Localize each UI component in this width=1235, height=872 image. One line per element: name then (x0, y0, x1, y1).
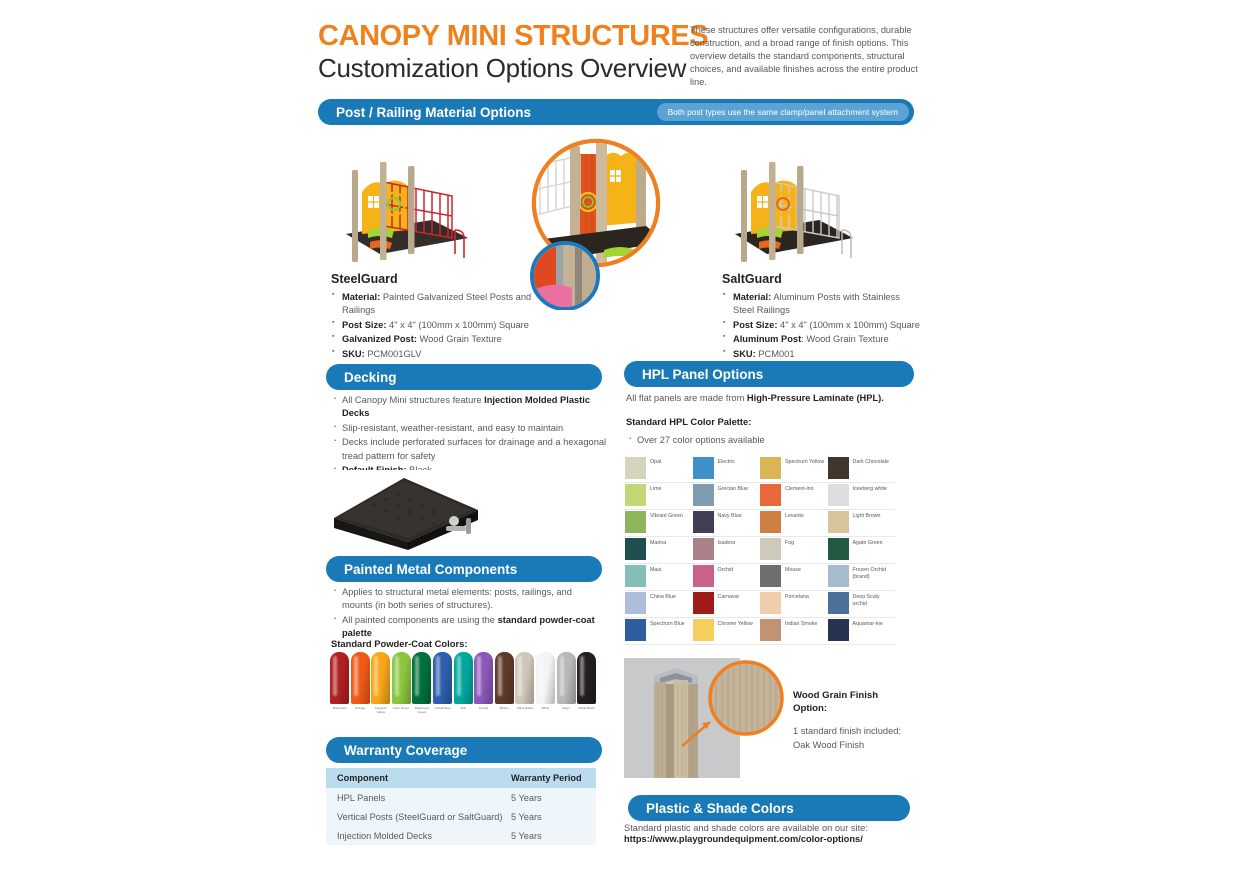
hpl-color-swatch (828, 484, 849, 506)
hpl-color-name: Dark Chocolate (853, 456, 890, 466)
hpl-color-name: Grecian Blue (718, 483, 749, 493)
powder-coat-name: Brick Red (330, 706, 349, 710)
plastic-shade-url[interactable]: https://www.playgroundequipment.com/colo… (624, 834, 924, 844)
header-description: These structures offer versatile configu… (690, 24, 922, 89)
hpl-color-swatch (693, 538, 714, 560)
page-header: CANOPY MINI STRUCTURES Customization Opt… (318, 22, 918, 102)
hpl-color-cell[interactable]: Spectrum Yellow (760, 456, 828, 483)
hpl-color-name: Fog (785, 537, 794, 547)
powder-coat-name: Orange (351, 706, 370, 710)
powder-coat-cap (371, 652, 390, 704)
hpl-color-swatch (760, 538, 781, 560)
saltguard-structure-image (713, 134, 859, 274)
powder-coat-swatch[interactable]: Silver (557, 652, 576, 714)
hpl-color-cell[interactable]: Electric (693, 456, 761, 483)
hpl-color-name: Maui (650, 564, 661, 574)
wood-grain-post-image (624, 658, 784, 778)
steelguard-name: SteelGuard (331, 272, 536, 286)
hpl-palette-label: Standard HPL Color Palette: (626, 416, 751, 427)
hpl-color-name: China Blue (650, 591, 676, 601)
hpl-color-name: Indian Smoke (785, 618, 817, 628)
section-bar-painted-metal: Painted Metal Components (326, 556, 602, 582)
hpl-color-swatch (625, 484, 646, 506)
section-bar-painted-metal-label: Painted Metal Components (344, 562, 517, 577)
powder-coat-cap (433, 652, 452, 704)
hpl-color-swatch (828, 457, 849, 479)
hpl-color-swatch (693, 619, 714, 641)
powder-coat-cap (515, 652, 534, 704)
powder-coat-cap (536, 652, 555, 704)
section-bar-hpl: HPL Panel Options (624, 361, 914, 387)
section-bar-decking-label: Decking (344, 370, 397, 385)
saltguard-spec-block: SaltGuard Material: Aluminum Posts with … (722, 272, 922, 362)
hpl-color-cell[interactable]: Deep Scaly orchid (828, 591, 896, 618)
painted-metal-bullets: Applies to structural metal elements: po… (331, 586, 605, 642)
hpl-color-name: Chrome Yellow (718, 618, 753, 628)
hpl-intro-text: All flat panels are made from High-Press… (626, 392, 916, 406)
wood-grain-description: 1 standard finish included: Oak Wood Fin… (793, 725, 903, 753)
powder-coat-swatch[interactable]: Lime Green (392, 652, 411, 714)
table-row: Vertical Posts (SteelGuard or SaltGuard)… (326, 807, 596, 826)
powder-coat-swatch[interactable]: Brick Red (330, 652, 349, 714)
hpl-color-cell[interactable]: Opal (625, 456, 693, 483)
powder-coat-swatch-row: Brick RedOrangeSunglow YellowLime GreenR… (330, 652, 596, 714)
hpl-color-cell[interactable]: Grecian Blue (693, 483, 761, 510)
powder-coat-cap (392, 652, 411, 704)
powder-coat-name: Teal (454, 706, 473, 710)
wood-grain-title: Wood Grain Finish Option: (793, 690, 903, 716)
hpl-color-name: Orchid (718, 564, 734, 574)
hpl-color-name: Vibrant Green (650, 510, 683, 520)
hpl-color-cell[interactable]: Dark Chocolate (828, 456, 896, 483)
hpl-color-name: Spectrum Blue (650, 618, 685, 628)
powder-coat-name: White (536, 706, 555, 710)
hpl-color-cell[interactable]: Chrome Yellow (693, 618, 761, 645)
infographic-page: CANOPY MINI STRUCTURES Customization Opt… (0, 0, 1235, 872)
hpl-color-name: Porcelana (785, 591, 809, 601)
hpl-color-name: Levante (785, 510, 804, 520)
powder-coat-cap (330, 652, 349, 704)
hpl-color-name: Frozen Orchid (brand) (853, 564, 894, 581)
powder-coat-swatch[interactable]: Cobalt Blue (433, 652, 452, 714)
table-header-row: Component Warranty Period (326, 768, 596, 788)
hpl-color-cell[interactable]: Maui (625, 564, 693, 591)
hpl-color-swatch (828, 592, 849, 614)
powder-coat-name: Lime Green (392, 706, 411, 710)
hpl-color-swatch (625, 538, 646, 560)
hpl-color-swatch (625, 592, 646, 614)
saltguard-spec-list: Material: Aluminum Posts with Stainless … (722, 291, 922, 361)
hpl-color-cell[interactable]: Agate Green (828, 537, 896, 564)
hpl-color-swatch (625, 511, 646, 533)
steelguard-spec-list: Material: Painted Galvanized Steel Posts… (331, 291, 536, 361)
list-item: Over 27 color options available (626, 434, 866, 447)
hpl-color-swatch (760, 619, 781, 641)
hpl-color-cell[interactable]: Porcelana (760, 591, 828, 618)
hpl-color-name: Marina (650, 537, 666, 547)
hpl-color-cell[interactable]: Frozen Orchid (brand) (828, 564, 896, 591)
powder-coat-cap (474, 652, 493, 704)
hpl-color-swatch (828, 511, 849, 533)
hpl-color-name: Clement-ino (785, 483, 814, 493)
hpl-color-cell[interactable]: Fog (760, 537, 828, 564)
hpl-color-swatch (760, 511, 781, 533)
hpl-color-cell[interactable]: Carnaval (693, 591, 761, 618)
section-bar-post-railing-label: Post / Railing Material Options (336, 105, 531, 120)
powder-coat-swatch[interactable]: Rainforest Green (412, 652, 431, 714)
powder-coat-name: Purple (474, 706, 493, 710)
hpl-color-name: Mouse (785, 564, 801, 574)
list-item: All Canopy Mini structures feature Injec… (331, 394, 607, 421)
hpl-color-swatch (693, 511, 714, 533)
steelguard-spec-block: SteelGuard Material: Painted Galvanized … (331, 272, 536, 362)
hpl-color-swatch (693, 457, 714, 479)
list-item: Applies to structural metal elements: po… (331, 586, 605, 613)
table-row: Injection Molded Decks 5 Years (326, 826, 596, 845)
hpl-color-name: Isadora (718, 537, 736, 547)
powder-coat-cap (454, 652, 473, 704)
section-bar-warranty: Warranty Coverage (326, 737, 602, 763)
hpl-color-swatch (828, 538, 849, 560)
list-item: SKU: PCM001GLV (331, 348, 536, 361)
hpl-color-grid: OpalElectricSpectrum YellowDark Chocolat… (625, 456, 895, 645)
list-item: Material: Aluminum Posts with Stainless … (722, 291, 922, 318)
table-row: HPL Panels 5 Years (326, 788, 596, 807)
hpl-color-swatch (625, 457, 646, 479)
list-item: Galvanized Post: Wood Grain Texture (331, 333, 536, 346)
cell-component: Injection Molded Decks (326, 831, 511, 841)
hpl-color-cell[interactable]: Lime (625, 483, 693, 510)
hpl-color-cell[interactable]: Navy Blue (693, 510, 761, 537)
post-railing-note-pill: Both post types use the same clamp/panel… (657, 103, 909, 121)
hpl-color-cell[interactable]: Levante (760, 510, 828, 537)
saltguard-name: SaltGuard (722, 272, 922, 286)
powder-coat-name: Cobalt Blue (433, 706, 452, 710)
powder-coat-swatch[interactable]: Brown (495, 652, 514, 714)
powder-coat-cap (557, 652, 576, 704)
cell-component: HPL Panels (326, 793, 511, 803)
hpl-color-name: Deep Scaly orchid (853, 591, 894, 608)
list-item: Aluminum Post: Wood Grain Texture (722, 333, 922, 346)
column-header-component: Component (326, 773, 511, 783)
hpl-color-cell[interactable]: Orchid (693, 564, 761, 591)
list-item: Decks include perforated surfaces for dr… (331, 436, 607, 463)
hpl-color-cell[interactable]: Spectrum Blue (625, 618, 693, 645)
powder-coat-swatch[interactable]: Sand Dollar (515, 652, 534, 714)
hpl-color-cell[interactable]: Light Brown (828, 510, 896, 537)
steelguard-structure-image (322, 134, 474, 274)
hpl-color-swatch (760, 457, 781, 479)
deck-panel-image (326, 470, 506, 550)
cell-period: 5 Years (511, 812, 596, 822)
hpl-color-name: Opal (650, 456, 661, 466)
hpl-color-swatch (828, 619, 849, 641)
section-bar-post-railing: Post / Railing Material Options Both pos… (318, 99, 914, 125)
hpl-color-cell[interactable]: Isadora (693, 537, 761, 564)
hpl-color-swatch (760, 484, 781, 506)
list-item: Post Size: 4" x 4" (100mm x 100mm) Squar… (722, 319, 922, 332)
hpl-color-name: Light Brown (853, 510, 881, 520)
hpl-color-name: Spectrum Yellow (785, 456, 824, 466)
powder-coat-swatch[interactable]: Teal (454, 652, 473, 714)
powder-coat-name: Silver (557, 706, 576, 710)
hpl-color-name: Navy Blue (718, 510, 742, 520)
powder-coat-swatch-label: Standard Powder-Coat Colors: (331, 638, 467, 649)
hpl-color-swatch (760, 592, 781, 614)
hpl-color-cell[interactable]: China Blue (625, 591, 693, 618)
powder-coat-name: Brown (495, 706, 514, 710)
hpl-color-cell[interactable]: Indian Smoke (760, 618, 828, 645)
hpl-color-cell[interactable]: Marina (625, 537, 693, 564)
hpl-color-swatch (693, 592, 714, 614)
hpl-color-name: Electric (718, 456, 735, 466)
hpl-bullet-list: Over 27 color options available (626, 434, 866, 448)
hpl-color-cell[interactable]: Clement-ino (760, 483, 828, 510)
hpl-color-name: Lime (650, 483, 661, 493)
list-item: Material: Painted Galvanized Steel Posts… (331, 291, 536, 318)
hpl-color-cell[interactable]: Aquamar-ine (828, 618, 896, 645)
hpl-color-name: Iceeberg white (853, 483, 887, 493)
wood-grain-text-block: Wood Grain Finish Option: 1 standard fin… (793, 690, 903, 753)
section-bar-plastic-shade: Plastic & Shade Colors (628, 795, 910, 821)
list-item: Slip-resistant, weather-resistant, and e… (331, 422, 607, 435)
cell-period: 5 Years (511, 793, 596, 803)
powder-coat-swatch[interactable]: Sunglow Yellow (371, 652, 390, 714)
powder-coat-swatch[interactable]: White (536, 652, 555, 714)
powder-coat-swatch[interactable]: Orange (351, 652, 370, 714)
section-bar-warranty-label: Warranty Coverage (344, 743, 467, 758)
hpl-color-name: Carnaval (718, 591, 739, 601)
powder-coat-name: Rainforest Green (412, 706, 431, 714)
hpl-color-cell[interactable]: Iceeberg white (828, 483, 896, 510)
section-bar-plastic-shade-label: Plastic & Shade Colors (646, 801, 794, 816)
list-item: Post Size: 4" x 4" (100mm x 100mm) Squar… (331, 319, 536, 332)
powder-coat-cap (412, 652, 431, 704)
hpl-color-swatch (828, 565, 849, 587)
powder-coat-cap (495, 652, 514, 704)
warranty-table: Component Warranty Period HPL Panels 5 Y… (326, 768, 596, 845)
hpl-color-swatch (625, 565, 646, 587)
hpl-color-cell[interactable]: Mouse (760, 564, 828, 591)
hpl-color-swatch (693, 565, 714, 587)
cell-period: 5 Years (511, 831, 596, 841)
powder-coat-swatch[interactable]: Purple (474, 652, 493, 714)
powder-coat-name: Matte Black (577, 706, 596, 710)
powder-coat-name: Sunglow Yellow (371, 706, 390, 714)
column-header-period: Warranty Period (511, 773, 596, 783)
list-item: All painted components are using the sta… (331, 614, 605, 641)
section-bar-decking: Decking (326, 364, 602, 390)
list-item: SKU: PCM001 (722, 348, 922, 361)
powder-coat-cap (577, 652, 596, 704)
section-bar-hpl-label: HPL Panel Options (642, 367, 763, 382)
powder-coat-name: Sand Dollar (515, 706, 534, 710)
powder-coat-cap (351, 652, 370, 704)
powder-coat-swatch[interactable]: Matte Black (577, 652, 596, 714)
hpl-color-name: Aquamar-ine (853, 618, 883, 628)
hpl-color-swatch (625, 619, 646, 641)
hpl-color-cell[interactable]: Vibrant Green (625, 510, 693, 537)
hpl-color-name: Agate Green (853, 537, 883, 547)
decking-bullets: All Canopy Mini structures feature Injec… (331, 394, 607, 479)
cell-component: Vertical Posts (SteelGuard or SaltGuard) (326, 812, 511, 822)
hpl-color-swatch (760, 565, 781, 587)
hpl-color-swatch (693, 484, 714, 506)
